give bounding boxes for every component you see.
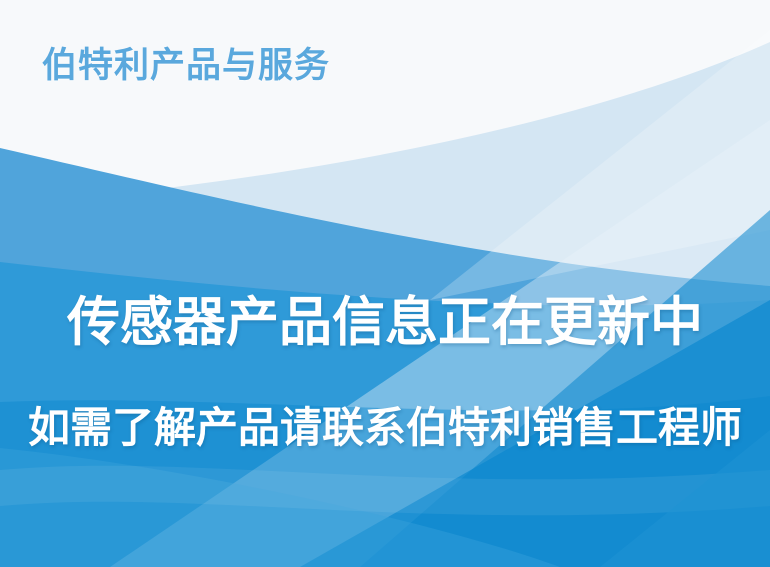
subheadline-text: 如需了解产品请联系伯特利销售工程师 (28, 403, 742, 453)
subheadline-container: 如需了解产品请联系伯特利销售工程师 (0, 403, 770, 453)
headline-text: 传感器产品信息正在更新中 (67, 292, 703, 355)
product-service-banner: 伯特利产品与服务 传感器产品信息正在更新中 如需了解产品请联系伯特利销售工程师 (0, 0, 770, 567)
brand-title: 伯特利产品与服务 (42, 46, 330, 86)
headline-container: 传感器产品信息正在更新中 (0, 292, 770, 355)
